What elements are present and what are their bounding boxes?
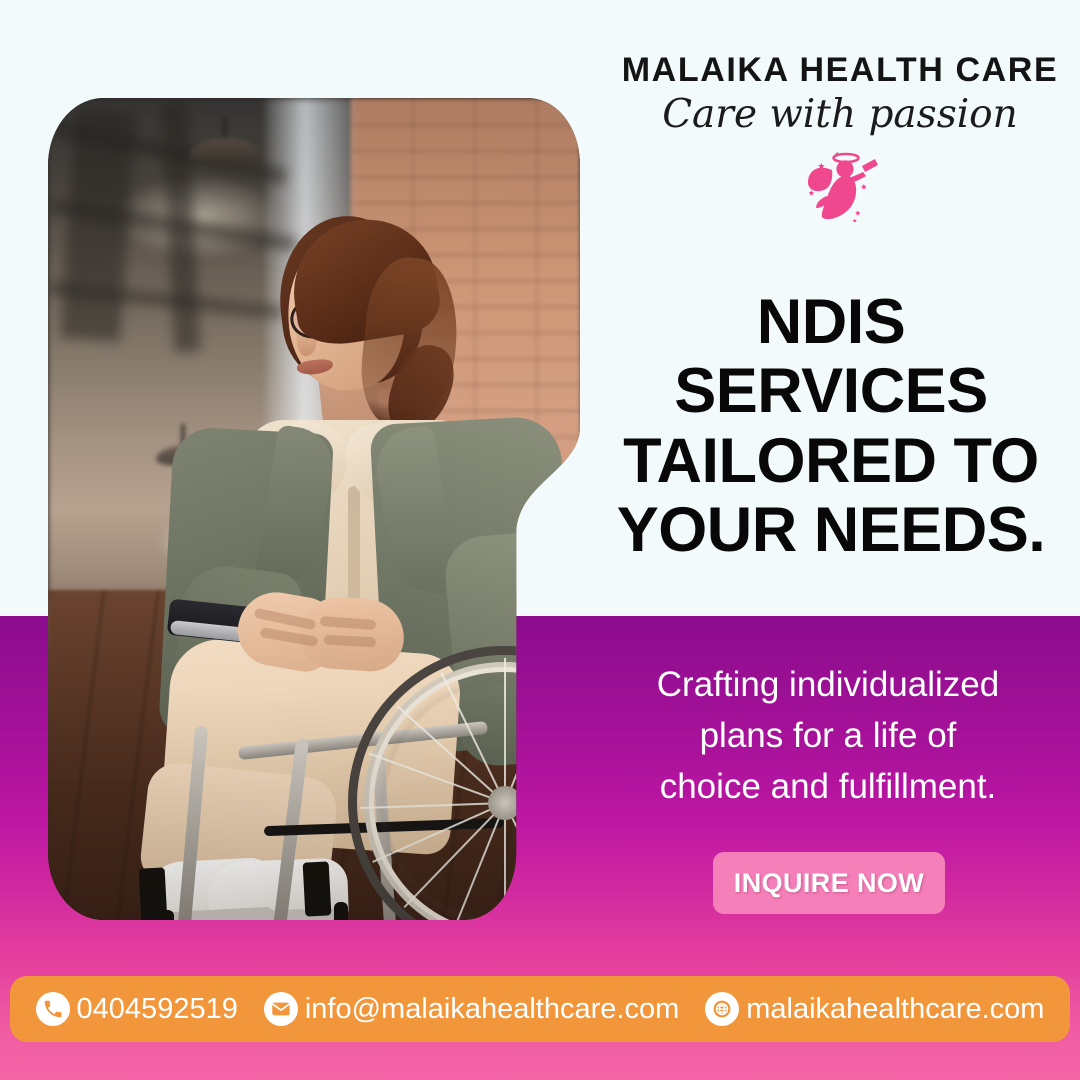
contact-email-text: info@malaikahealthcare.com [305, 993, 679, 1026]
contact-website-text: malaikahealthcare.com [746, 993, 1044, 1026]
subheadline-line-1: Crafting individualized [588, 660, 1068, 711]
globe-icon [705, 992, 739, 1026]
social-media-poster: MALAIKA HEALTH CARE Care with passion [0, 0, 1080, 1080]
brand-tagline: Care with passion [620, 93, 1060, 138]
phone-icon [36, 992, 70, 1026]
hero-photo [48, 98, 580, 920]
contact-email[interactable]: info@malaikahealthcare.com [264, 992, 679, 1026]
subheadline-line-3: choice and fulfillment. [588, 762, 1068, 813]
caster-fork [334, 902, 348, 920]
contact-phone-text: 0404592519 [77, 993, 238, 1026]
headline-line-4: YOUR NEEDS. [596, 496, 1066, 565]
subheadline-line-2: plans for a life of [588, 711, 1068, 762]
headline-line-3: TAILORED TO [596, 427, 1066, 496]
brand-block: MALAIKA HEALTH CARE Care with passion [620, 52, 1060, 222]
angel-icon [620, 148, 1060, 222]
headline: NDIS SERVICES TAILORED TO YOUR NEEDS. [596, 288, 1066, 565]
contact-website[interactable]: malaikahealthcare.com [705, 992, 1044, 1026]
caster-fork [160, 910, 174, 920]
hero-photo-card [48, 98, 580, 920]
calf-strap [303, 861, 332, 916]
contact-phone[interactable]: 0404592519 [36, 992, 238, 1026]
headline-line-2: SERVICES [596, 357, 1066, 426]
headline-line-1: NDIS [596, 288, 1066, 357]
email-icon [264, 992, 298, 1026]
brand-name: MALAIKA HEALTH CARE [620, 52, 1060, 89]
inquire-now-button[interactable]: INQUIRE NOW [713, 852, 945, 914]
contact-footer-bar: 0404592519 info@malaikahealthcare.com [10, 976, 1070, 1042]
subheadline: Crafting individualized plans for a life… [588, 660, 1068, 812]
